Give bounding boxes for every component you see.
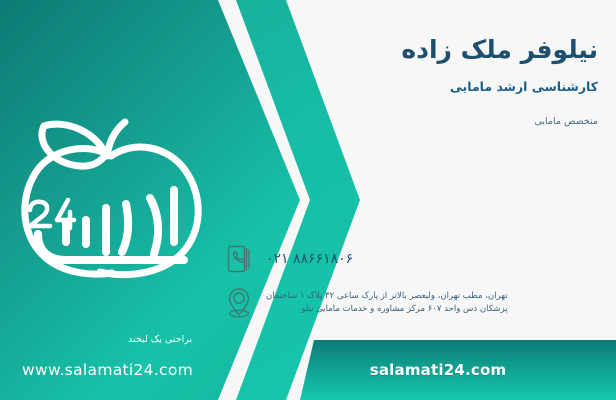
map-pin-icon — [222, 284, 256, 322]
person-name: نیلوفر ملک زاده — [238, 34, 598, 65]
contact-row-phone: ۸۸۶۶۱۸۰۶ ۰۲۱ — [222, 240, 602, 278]
logo-tagline: براحتی یک لبخند — [128, 334, 192, 345]
brand-logo: براحتی یک لبخند www.salamati24.com — [8, 112, 223, 282]
contact-row-address: تهران، مطب تهران، ولیعصر بالاتر از پارک … — [222, 284, 602, 322]
person-specialty: متخصص مامایی — [238, 116, 598, 127]
address-line-2: پزشکان دس واحد ۶۰۷ مرکز مشاوره و خدمات م… — [266, 303, 508, 316]
person-role: کارشناسی ارشد مامایی — [238, 79, 598, 94]
address-value-wrap: تهران، مطب تهران، ولیعصر بالاتر از پارک … — [266, 290, 508, 316]
phone-number: ۸۸۶۶۱۸۰۶ ۰۲۱ — [266, 251, 353, 267]
footer-website: salamati24.com — [370, 361, 507, 379]
footer-bar: salamati24.com — [300, 340, 616, 400]
logo-url: www.salamati24.com — [22, 361, 193, 379]
address-line-1: تهران، مطب تهران، ولیعصر بالاتر از پارک … — [266, 290, 508, 303]
person-info: نیلوفر ملک زاده کارشناسی ارشد مامایی متخ… — [238, 34, 598, 127]
phonebook-icon — [222, 240, 256, 278]
phone-value-wrap: ۸۸۶۶۱۸۰۶ ۰۲۱ — [266, 251, 353, 267]
contact-block: ۸۸۶۶۱۸۰۶ ۰۲۱ تهران، مطب تهران، ولیعصر با… — [222, 240, 602, 328]
business-card: براحتی یک لبخند www.salamati24.com نیلوف… — [0, 0, 616, 400]
